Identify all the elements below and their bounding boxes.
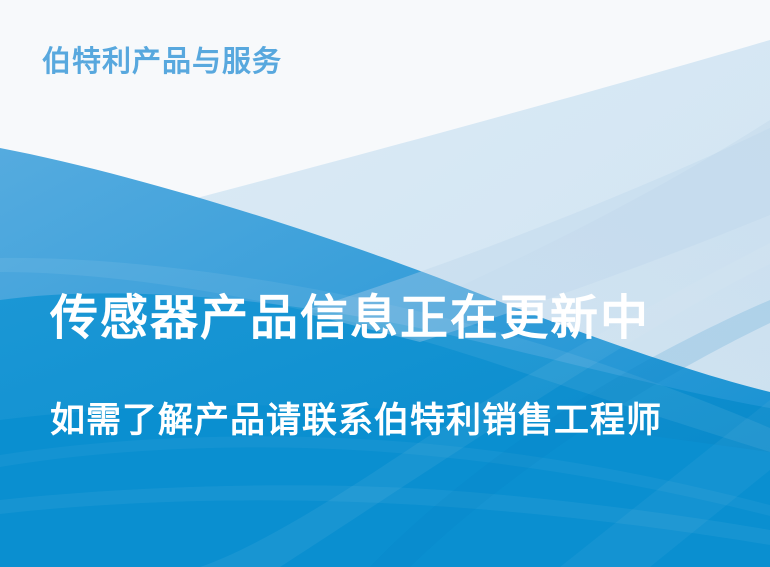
text-layer: 伯特利产品与服务 传感器产品信息正在更新中 如需了解产品请联系伯特利销售工程师 — [0, 0, 770, 567]
subheadline-text: 如需了解产品请联系伯特利销售工程师 — [50, 402, 662, 441]
product-banner: 伯特利产品与服务 传感器产品信息正在更新中 如需了解产品请联系伯特利销售工程师 — [0, 0, 770, 567]
headline-text: 传感器产品信息正在更新中 — [50, 293, 650, 346]
page-title: 伯特利产品与服务 — [42, 47, 282, 79]
